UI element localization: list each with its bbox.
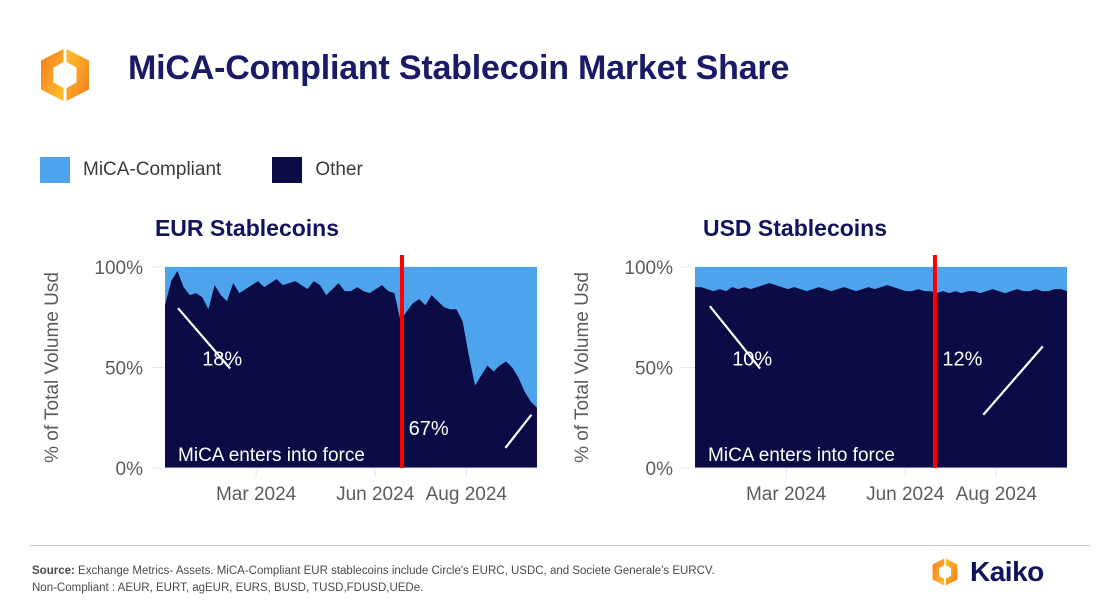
y-axis-title: % of Total Volume Usd [572, 272, 593, 463]
annotation-event-caption: MiCA enters into force [708, 445, 895, 466]
y-axis-title: % of Total Volume Usd [42, 272, 63, 463]
chart-panel-usd: USD Stablecoins 0%50%100%% of Total Volu… [570, 205, 1090, 530]
legend-item-mica-compliant[interactable]: MiCA-Compliant [40, 157, 221, 183]
annotation-post-mica-share: 12% [942, 348, 982, 370]
area-chart-eur[interactable]: 0%50%100%% of Total Volume UsdMar 2024Ju… [40, 245, 560, 530]
kaiko-hexagon-logo-icon [930, 557, 960, 587]
page-header: MiCA-Compliant Stablecoin Market Share [0, 0, 1120, 130]
brand-wordmark: Kaiko [970, 556, 1044, 588]
footer-source-line-2: Non-Compliant : AEUR, EURT, agEUR, EURS,… [32, 582, 423, 594]
chart-legend: MiCA-Compliant Other [40, 155, 363, 185]
y-axis-tick-label: 100% [624, 258, 673, 279]
annotation-post-mica-share: 67% [409, 418, 449, 440]
legend-label-other: Other [315, 159, 363, 181]
y-axis-tick-label: 0% [646, 459, 674, 480]
legend-swatch-mica-compliant [40, 157, 70, 183]
x-axis-tick-label: Mar 2024 [746, 484, 827, 505]
chart-title-eur: EUR Stablecoins [0, 215, 507, 242]
chart-title-usd: USD Stablecoins [535, 215, 1055, 242]
legend-item-other[interactable]: Other [272, 157, 363, 183]
kaiko-hexagon-logo-icon [36, 46, 94, 104]
x-axis-tick-label: Jun 2024 [336, 484, 415, 505]
area-chart-usd[interactable]: 0%50%100%% of Total Volume UsdMar 2024Ju… [570, 245, 1090, 530]
annotation-pre-mica-share: 18% [202, 348, 242, 370]
y-axis-tick-label: 50% [105, 359, 143, 380]
y-axis-tick-label: 100% [94, 258, 143, 279]
legend-swatch-other [272, 157, 302, 183]
footer-source-note: Source: Exchange Metrics- Assets. MiCA-C… [32, 563, 912, 596]
y-axis-tick-label: 50% [635, 359, 673, 380]
page-title: MiCA-Compliant Stablecoin Market Share [128, 49, 789, 88]
y-axis-tick-label: 0% [116, 459, 144, 480]
annotation-event-caption: MiCA enters into force [178, 445, 365, 466]
x-axis-tick-label: Jun 2024 [866, 484, 945, 505]
footer-brand: Kaiko [930, 556, 1044, 588]
annotation-pre-mica-share: 10% [732, 348, 772, 370]
area-other [695, 283, 1067, 468]
footer-divider [30, 545, 1090, 546]
chart-panel-eur: EUR Stablecoins 0%50%100%% of Total Volu… [40, 205, 560, 530]
footer-source-line-1: Exchange Metrics- Assets. MiCA-Compliant… [75, 565, 715, 577]
x-axis-tick-label: Aug 2024 [426, 484, 508, 505]
x-axis-tick-label: Aug 2024 [956, 484, 1038, 505]
legend-label-mica-compliant: MiCA-Compliant [83, 159, 221, 181]
footer-source-label: Source: [32, 565, 75, 577]
x-axis-tick-label: Mar 2024 [216, 484, 297, 505]
